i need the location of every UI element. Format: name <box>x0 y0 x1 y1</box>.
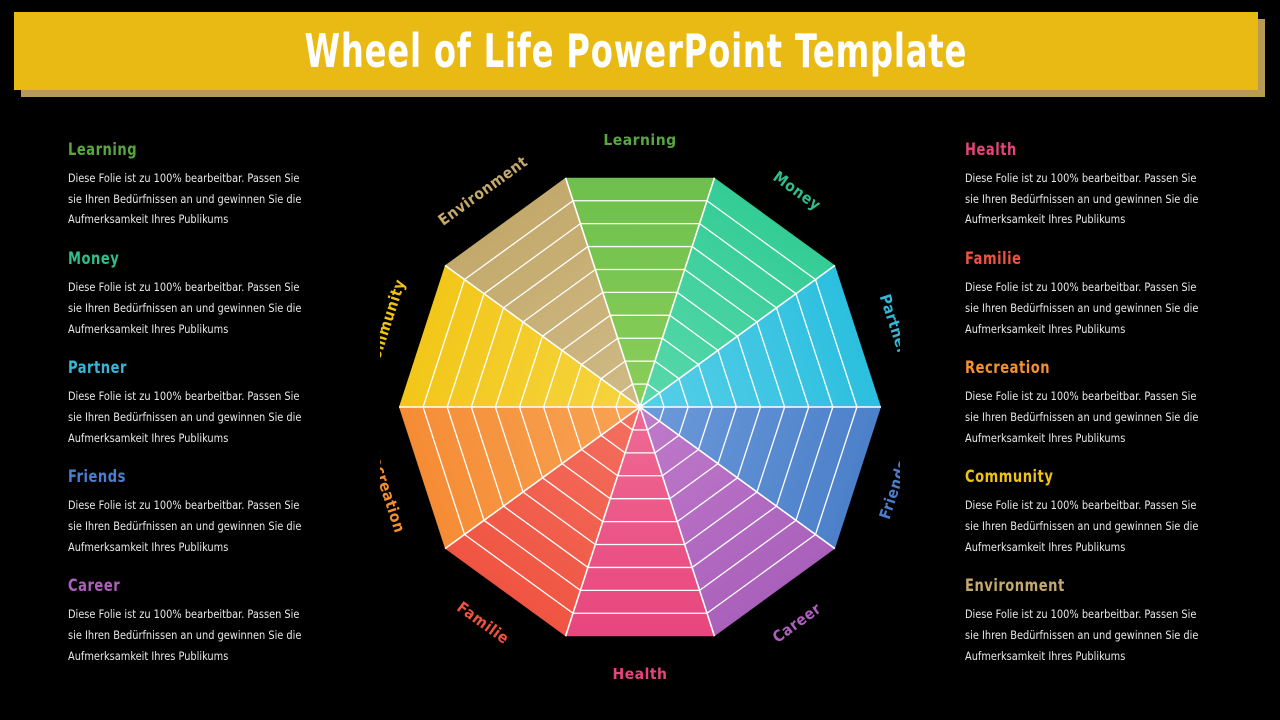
text-block-learning: Learning Diese Folie ist zu 100% bearbei… <box>68 140 323 230</box>
block-body-recreation: Diese Folie ist zu 100% bearbeitbar. Pas… <box>965 386 1205 448</box>
block-body-money: Diese Folie ist zu 100% bearbeitbar. Pas… <box>68 277 308 339</box>
wheel-of-life-chart: LearningMoneyPartnerFriendsCareerHealthF… <box>380 132 900 692</box>
right-text-column: Health Diese Folie ist zu 100% bearbeitb… <box>965 140 1220 686</box>
wheel-label-familie: Familie <box>454 598 513 648</box>
text-block-familie: Familie Diese Folie ist zu 100% bearbeit… <box>965 249 1220 339</box>
text-block-money: Money Diese Folie ist zu 100% bearbeitba… <box>68 249 323 339</box>
block-heading-familie: Familie <box>965 249 1189 268</box>
block-body-learning: Diese Folie ist zu 100% bearbeitbar. Pas… <box>68 168 308 230</box>
text-block-community: Community Diese Folie ist zu 100% bearbe… <box>965 467 1220 557</box>
text-block-partner: Partner Diese Folie ist zu 100% bearbeit… <box>68 358 323 448</box>
wheel-label-learning: Learning <box>603 132 676 149</box>
block-heading-health: Health <box>965 140 1189 159</box>
left-text-column: Learning Diese Folie ist zu 100% bearbei… <box>68 140 323 686</box>
block-heading-career: Career <box>68 576 292 595</box>
text-block-recreation: Recreation Diese Folie ist zu 100% bearb… <box>965 358 1220 448</box>
wheel-label-partner: Partner <box>876 292 900 357</box>
wheel-svg: LearningMoneyPartnerFriendsCareerHealthF… <box>380 132 900 692</box>
text-block-health: Health Diese Folie ist zu 100% bearbeitb… <box>965 140 1220 230</box>
block-heading-money: Money <box>68 249 292 268</box>
block-body-familie: Diese Folie ist zu 100% bearbeitbar. Pas… <box>965 277 1205 339</box>
block-body-environment: Diese Folie ist zu 100% bearbeitbar. Pas… <box>965 604 1205 666</box>
block-body-career: Diese Folie ist zu 100% bearbeitbar. Pas… <box>68 604 308 666</box>
wheel-label-community: Community <box>380 277 409 372</box>
block-body-partner: Diese Folie ist zu 100% bearbeitbar. Pas… <box>68 386 308 448</box>
wheel-label-health: Health <box>613 665 668 683</box>
block-heading-partner: Partner <box>68 358 292 377</box>
text-block-career: Career Diese Folie ist zu 100% bearbeitb… <box>68 576 323 666</box>
block-heading-friends: Friends <box>68 467 292 486</box>
block-heading-learning: Learning <box>68 140 292 159</box>
title-banner: Wheel of Life PowerPoint Template <box>14 12 1258 90</box>
block-heading-recreation: Recreation <box>965 358 1189 377</box>
wheel-label-money: Money <box>770 168 825 215</box>
page-title: Wheel of Life PowerPoint Template <box>305 24 968 78</box>
block-heading-environment: Environment <box>965 576 1189 595</box>
wheel-label-recreation: Recreation <box>380 444 409 535</box>
text-block-environment: Environment Diese Folie ist zu 100% bear… <box>965 576 1220 666</box>
wheel-label-friends: Friends <box>876 458 900 522</box>
block-body-health: Diese Folie ist zu 100% bearbeitbar. Pas… <box>965 168 1205 230</box>
text-block-friends: Friends Diese Folie ist zu 100% bearbeit… <box>68 467 323 557</box>
block-heading-community: Community <box>965 467 1189 486</box>
block-body-community: Diese Folie ist zu 100% bearbeitbar. Pas… <box>965 495 1205 557</box>
block-body-friends: Diese Folie ist zu 100% bearbeitbar. Pas… <box>68 495 308 557</box>
wheel-label-career: Career <box>769 599 824 646</box>
